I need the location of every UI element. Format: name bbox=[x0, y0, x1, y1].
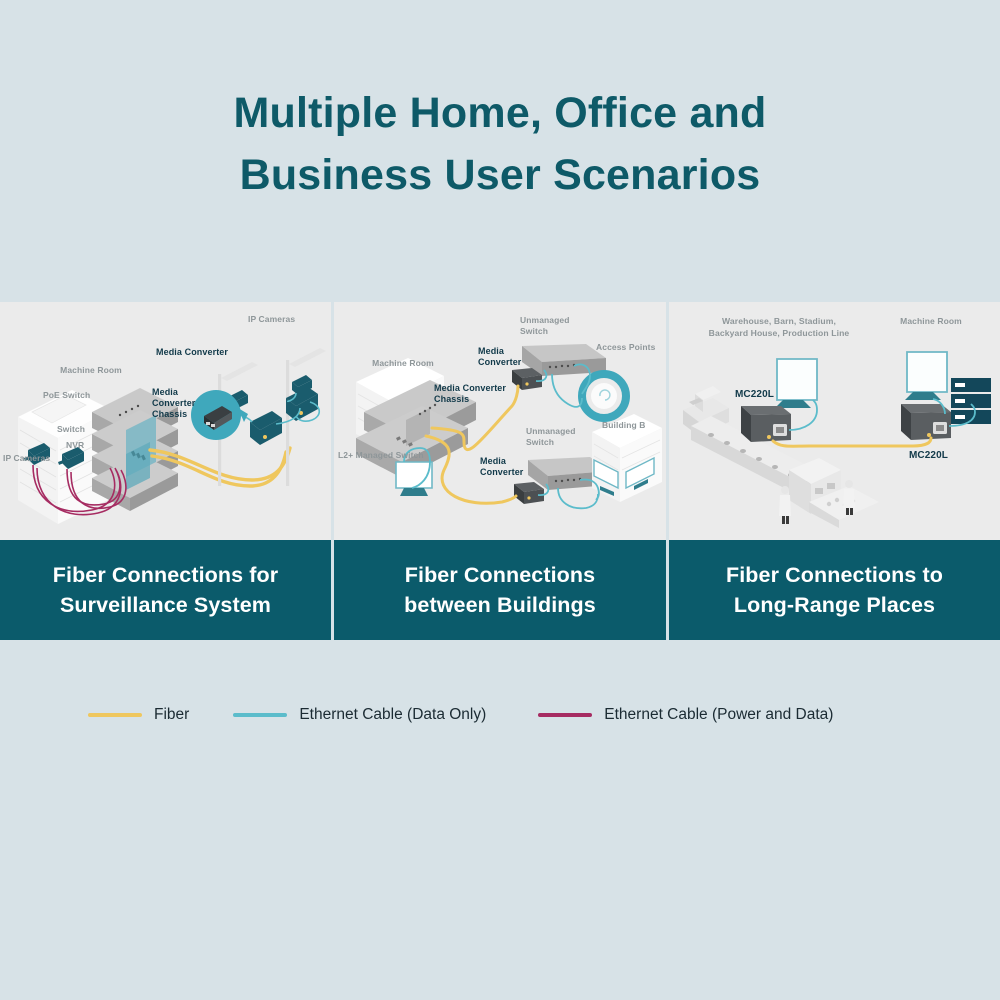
legend-item-ethernet-data: Ethernet Cable (Data Only) bbox=[233, 706, 486, 724]
caption-surveillance: Fiber Connections for Surveillance Syste… bbox=[0, 540, 331, 640]
label-unmanaged-switch-bottom-2: Switch bbox=[526, 437, 554, 448]
label-chassis-line-2: Converter bbox=[152, 398, 195, 409]
label-machine-room-2: Machine Room bbox=[358, 358, 448, 369]
cable-legend: Fiber Ethernet Cable (Data Only) Etherne… bbox=[0, 706, 1000, 724]
caption-long-range-line-1: Fiber Connections to bbox=[726, 560, 943, 590]
legend-label-ethernet-power-data: Ethernet Cable (Power and Data) bbox=[604, 706, 833, 724]
label-media-converter-bottom-2: Converter bbox=[480, 467, 523, 478]
label-switch: Switch bbox=[57, 424, 85, 435]
label-nvr: NVR bbox=[66, 440, 84, 451]
label-unmanaged-switch-bottom-1: Unmanaged bbox=[526, 426, 576, 437]
diagram-surveillance-graphic bbox=[0, 302, 331, 540]
label-unmanaged-switch-top-1: Unmanaged bbox=[520, 315, 570, 326]
caption-between-buildings-line-2: between Buildings bbox=[404, 590, 596, 620]
diagram-surveillance: Machine Room PoE Switch Switch NVR IP Ca… bbox=[0, 302, 331, 540]
label-building-b: Building B bbox=[602, 420, 646, 431]
caption-long-range-line-2: Long-Range Places bbox=[726, 590, 943, 620]
page-title-line-2: Business User Scenarios bbox=[0, 144, 1000, 206]
label-access-points: Access Points bbox=[596, 342, 655, 353]
label-chassis-2-line-1: Media Converter bbox=[434, 383, 506, 394]
label-site-line-2: Backyard House, Production Line bbox=[689, 328, 869, 339]
scenario-panels: Machine Room PoE Switch Switch NVR IP Ca… bbox=[0, 302, 1000, 640]
label-chassis-2-line-2: Chassis bbox=[434, 394, 469, 405]
label-media-converter-top-1: Media bbox=[478, 346, 504, 357]
label-media-converter-top-2: Converter bbox=[478, 357, 521, 368]
label-l2-managed-switch: L2+ Managed Switch bbox=[338, 450, 424, 461]
diagram-between-buildings: Machine Room L2+ Managed Switch Media Co… bbox=[334, 302, 666, 540]
scenario-panel-long-range[interactable]: Warehouse, Barn, Stadium, Backyard House… bbox=[669, 302, 1000, 640]
caption-between-buildings-line-1: Fiber Connections bbox=[404, 560, 596, 590]
label-machine-room-3: Machine Room bbox=[881, 316, 981, 327]
legend-swatch-fiber bbox=[88, 713, 142, 717]
label-media-converter: Media Converter bbox=[156, 347, 228, 358]
legend-swatch-ethernet-data bbox=[233, 713, 287, 717]
label-unmanaged-switch-top-2: Switch bbox=[520, 326, 548, 337]
page-title-line-1: Multiple Home, Office and bbox=[0, 82, 1000, 144]
label-chassis-line-3: Chassis bbox=[152, 409, 187, 420]
legend-label-fiber: Fiber bbox=[154, 706, 189, 724]
legend-label-ethernet-data: Ethernet Cable (Data Only) bbox=[299, 706, 486, 724]
caption-between-buildings: Fiber Connections between Buildings bbox=[334, 540, 666, 640]
diagram-long-range: Warehouse, Barn, Stadium, Backyard House… bbox=[669, 302, 1000, 540]
label-chassis-line-1: Media bbox=[152, 387, 178, 398]
label-poe-switch: PoE Switch bbox=[43, 390, 90, 401]
legend-item-ethernet-power-data: Ethernet Cable (Power and Data) bbox=[538, 706, 833, 724]
label-site-line-1: Warehouse, Barn, Stadium, bbox=[689, 316, 869, 327]
legend-item-fiber: Fiber bbox=[88, 706, 189, 724]
label-mc220l-left: MC220L bbox=[735, 389, 774, 400]
page-title: Multiple Home, Office and Business User … bbox=[0, 0, 1000, 206]
label-media-converter-bottom-1: Media bbox=[480, 456, 506, 467]
label-ip-cameras-left: IP Cameras bbox=[3, 453, 50, 464]
label-machine-room: Machine Room bbox=[46, 365, 136, 376]
label-ip-cameras-right: IP Cameras bbox=[248, 314, 295, 325]
caption-surveillance-line-1: Fiber Connections for bbox=[53, 560, 278, 590]
legend-swatch-ethernet-power-data bbox=[538, 713, 592, 717]
scenario-panel-between-buildings[interactable]: Machine Room L2+ Managed Switch Media Co… bbox=[334, 302, 666, 640]
label-mc220l-right: MC220L bbox=[909, 450, 948, 461]
caption-long-range: Fiber Connections to Long-Range Places bbox=[669, 540, 1000, 640]
scenario-panel-surveillance[interactable]: Machine Room PoE Switch Switch NVR IP Ca… bbox=[0, 302, 331, 640]
caption-surveillance-line-2: Surveillance System bbox=[53, 590, 278, 620]
